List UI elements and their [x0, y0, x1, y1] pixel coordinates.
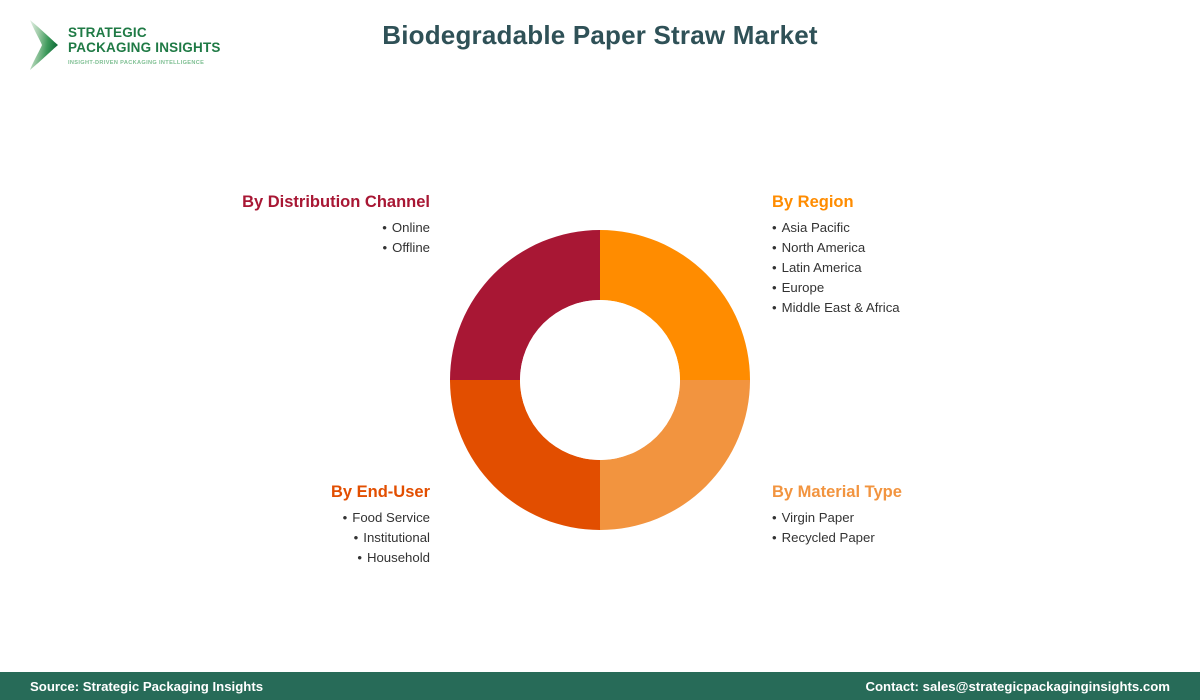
- list-item-label: Asia Pacific: [782, 220, 850, 235]
- list-item-label: Offline: [392, 240, 430, 255]
- list-item-label: Food Service: [352, 510, 430, 525]
- bullet-icon: •: [354, 528, 359, 548]
- list-item: •North America: [772, 238, 1102, 258]
- segment-material-type: By Material Type •Virgin Paper •Recycled…: [772, 482, 1102, 548]
- footer-contact[interactable]: Contact: sales@strategicpackaginginsight…: [865, 679, 1170, 694]
- segment-end-user: By End-User •Food Service •Institutional…: [160, 482, 430, 568]
- bullet-icon: •: [357, 548, 362, 568]
- bullet-icon: •: [772, 298, 777, 318]
- segment-distribution-channel: By Distribution Channel •Online •Offline: [150, 192, 430, 258]
- list-item-label: North America: [782, 240, 866, 255]
- list-item-label: Latin America: [782, 260, 862, 275]
- segment-list-distribution-channel: •Online •Offline: [150, 218, 430, 258]
- list-item: •Middle East & Africa: [772, 298, 1102, 318]
- bullet-icon: •: [772, 258, 777, 278]
- segment-region: By Region •Asia Pacific •North America •…: [772, 192, 1102, 318]
- list-item: •Recycled Paper: [772, 528, 1102, 548]
- segment-title-distribution-channel: By Distribution Channel: [150, 192, 430, 212]
- list-item: •Europe: [772, 278, 1102, 298]
- bullet-icon: •: [382, 238, 387, 258]
- list-item-label: Europe: [782, 280, 825, 295]
- list-item-label: Virgin Paper: [782, 510, 854, 525]
- segment-title-material-type: By Material Type: [772, 482, 1102, 502]
- list-item: •Asia Pacific: [772, 218, 1102, 238]
- bullet-icon: •: [343, 508, 348, 528]
- segment-title-region: By Region: [772, 192, 1102, 212]
- segment-list-end-user: •Food Service •Institutional •Household: [160, 508, 430, 568]
- infographic-canvas: STRATEGIC PACKAGING INSIGHTS INSIGHT-DRI…: [0, 0, 1200, 700]
- donut-hole: [520, 300, 680, 460]
- bullet-icon: •: [772, 278, 777, 298]
- bullet-icon: •: [772, 508, 777, 528]
- bullet-icon: •: [382, 218, 387, 238]
- list-item: •Food Service: [160, 508, 430, 528]
- footer-bar: Source: Strategic Packaging Insights Con…: [0, 672, 1200, 700]
- list-item: •Virgin Paper: [772, 508, 1102, 528]
- list-item: •Online: [150, 218, 430, 238]
- bullet-icon: •: [772, 238, 777, 258]
- list-item: •Offline: [150, 238, 430, 258]
- page-title: Biodegradable Paper Straw Market: [0, 20, 1200, 51]
- logo-tagline: INSIGHT-DRIVEN PACKAGING INTELLIGENCE: [68, 60, 221, 66]
- list-item: •Latin America: [772, 258, 1102, 278]
- segment-title-end-user: By End-User: [160, 482, 430, 502]
- footer-source: Source: Strategic Packaging Insights: [30, 679, 263, 694]
- bullet-icon: •: [772, 528, 777, 548]
- list-item-label: Recycled Paper: [782, 530, 875, 545]
- list-item-label: Household: [367, 550, 430, 565]
- list-item-label: Institutional: [363, 530, 430, 545]
- list-item-label: Online: [392, 220, 430, 235]
- list-item-label: Middle East & Africa: [782, 300, 900, 315]
- list-item: •Household: [160, 548, 430, 568]
- bullet-icon: •: [772, 218, 777, 238]
- donut-chart: [450, 230, 750, 530]
- list-item: •Institutional: [160, 528, 430, 548]
- segment-list-material-type: •Virgin Paper •Recycled Paper: [772, 508, 1102, 548]
- segment-list-region: •Asia Pacific •North America •Latin Amer…: [772, 218, 1102, 318]
